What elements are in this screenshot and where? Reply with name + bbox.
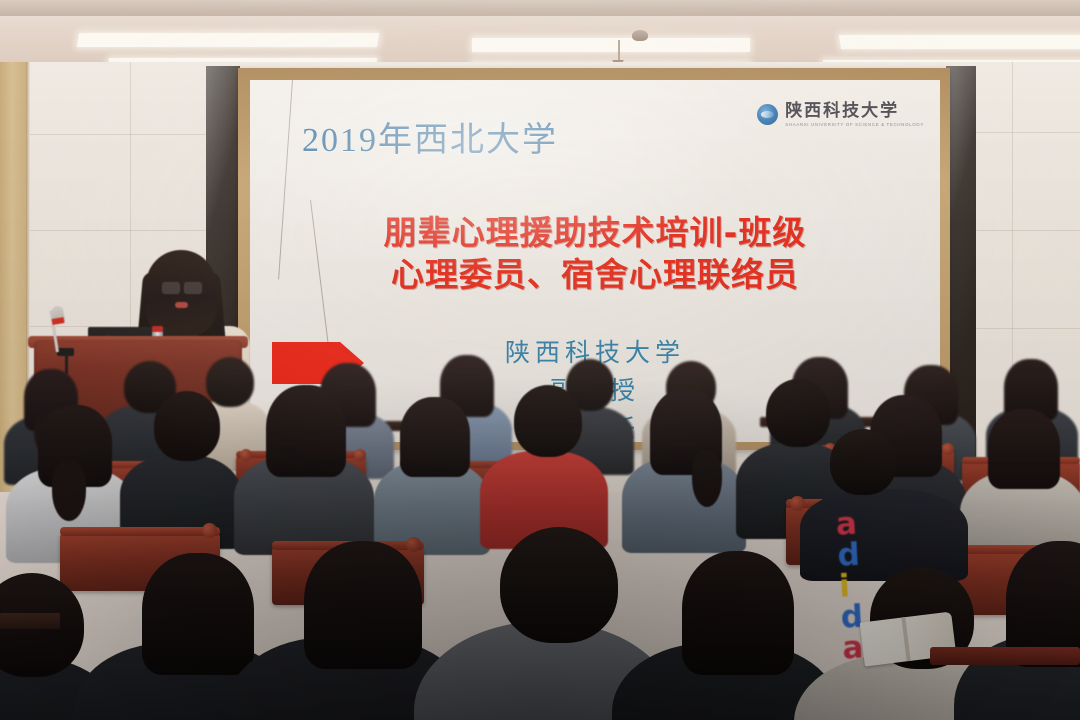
smoke-detector-icon — [632, 30, 648, 41]
person-hair — [304, 541, 422, 669]
slide-heading: 2019年西北大学 — [302, 112, 558, 161]
slide-title: 朋辈心理援助技术培训-班级 心理委员、宿舍心理联络员 — [250, 212, 940, 296]
adidas-letter: i — [838, 571, 851, 603]
seat-knob — [354, 449, 366, 461]
speaker-hair — [146, 250, 216, 336]
person-head — [514, 385, 582, 457]
seat-knob — [942, 443, 954, 455]
slide-title-line-2: 心理委员、宿舍心理联络员 — [250, 254, 940, 296]
ceiling-light-panel — [77, 33, 379, 47]
person-ponytail — [692, 451, 722, 507]
adidas-letter: d — [837, 539, 862, 571]
person-head — [154, 391, 220, 461]
ceiling-light-panel — [472, 38, 750, 52]
university-logo-en: SHAANXI UNIVERSITY OF SCIENCE & TECHNOLO… — [785, 122, 924, 127]
desk-ledge — [930, 647, 1080, 665]
seat-knob — [202, 523, 217, 538]
photo-scene: 2019年西北大学 陕西科技大学 SHAANXI UNIVERSITY OF S… — [0, 0, 1080, 720]
speaker-mouth — [175, 302, 188, 308]
person-hair — [400, 397, 470, 477]
person-head — [206, 357, 254, 407]
slide-title-line-1: 朋辈心理援助技术培训-班级 — [250, 212, 940, 254]
ceiling-wire — [618, 40, 620, 62]
audience: adidas — [0, 355, 1080, 720]
person-head — [500, 527, 618, 643]
person-head — [830, 429, 896, 495]
seat-knob — [240, 449, 252, 461]
ceiling-lip — [0, 0, 1080, 16]
person-hair — [682, 551, 794, 675]
person-hair — [142, 553, 254, 675]
person-hair — [266, 385, 346, 477]
person-head — [766, 379, 830, 447]
person-hair — [988, 409, 1060, 489]
desk-ledge — [0, 613, 60, 629]
person-ponytail — [52, 461, 86, 521]
ceiling-light-panel — [839, 35, 1080, 49]
university-logo: 陕西科技大学 SHAANXI UNIVERSITY OF SCIENCE & T… — [757, 102, 924, 127]
university-logo-cn: 陕西科技大学 — [785, 102, 924, 119]
seat-knob — [790, 496, 805, 511]
seat-bar — [60, 527, 220, 536]
person-body — [800, 489, 968, 581]
university-emblem-icon — [757, 104, 778, 125]
glasses-icon — [161, 282, 203, 292]
seat-knob — [406, 537, 421, 552]
water-bottle-cap — [152, 326, 163, 332]
